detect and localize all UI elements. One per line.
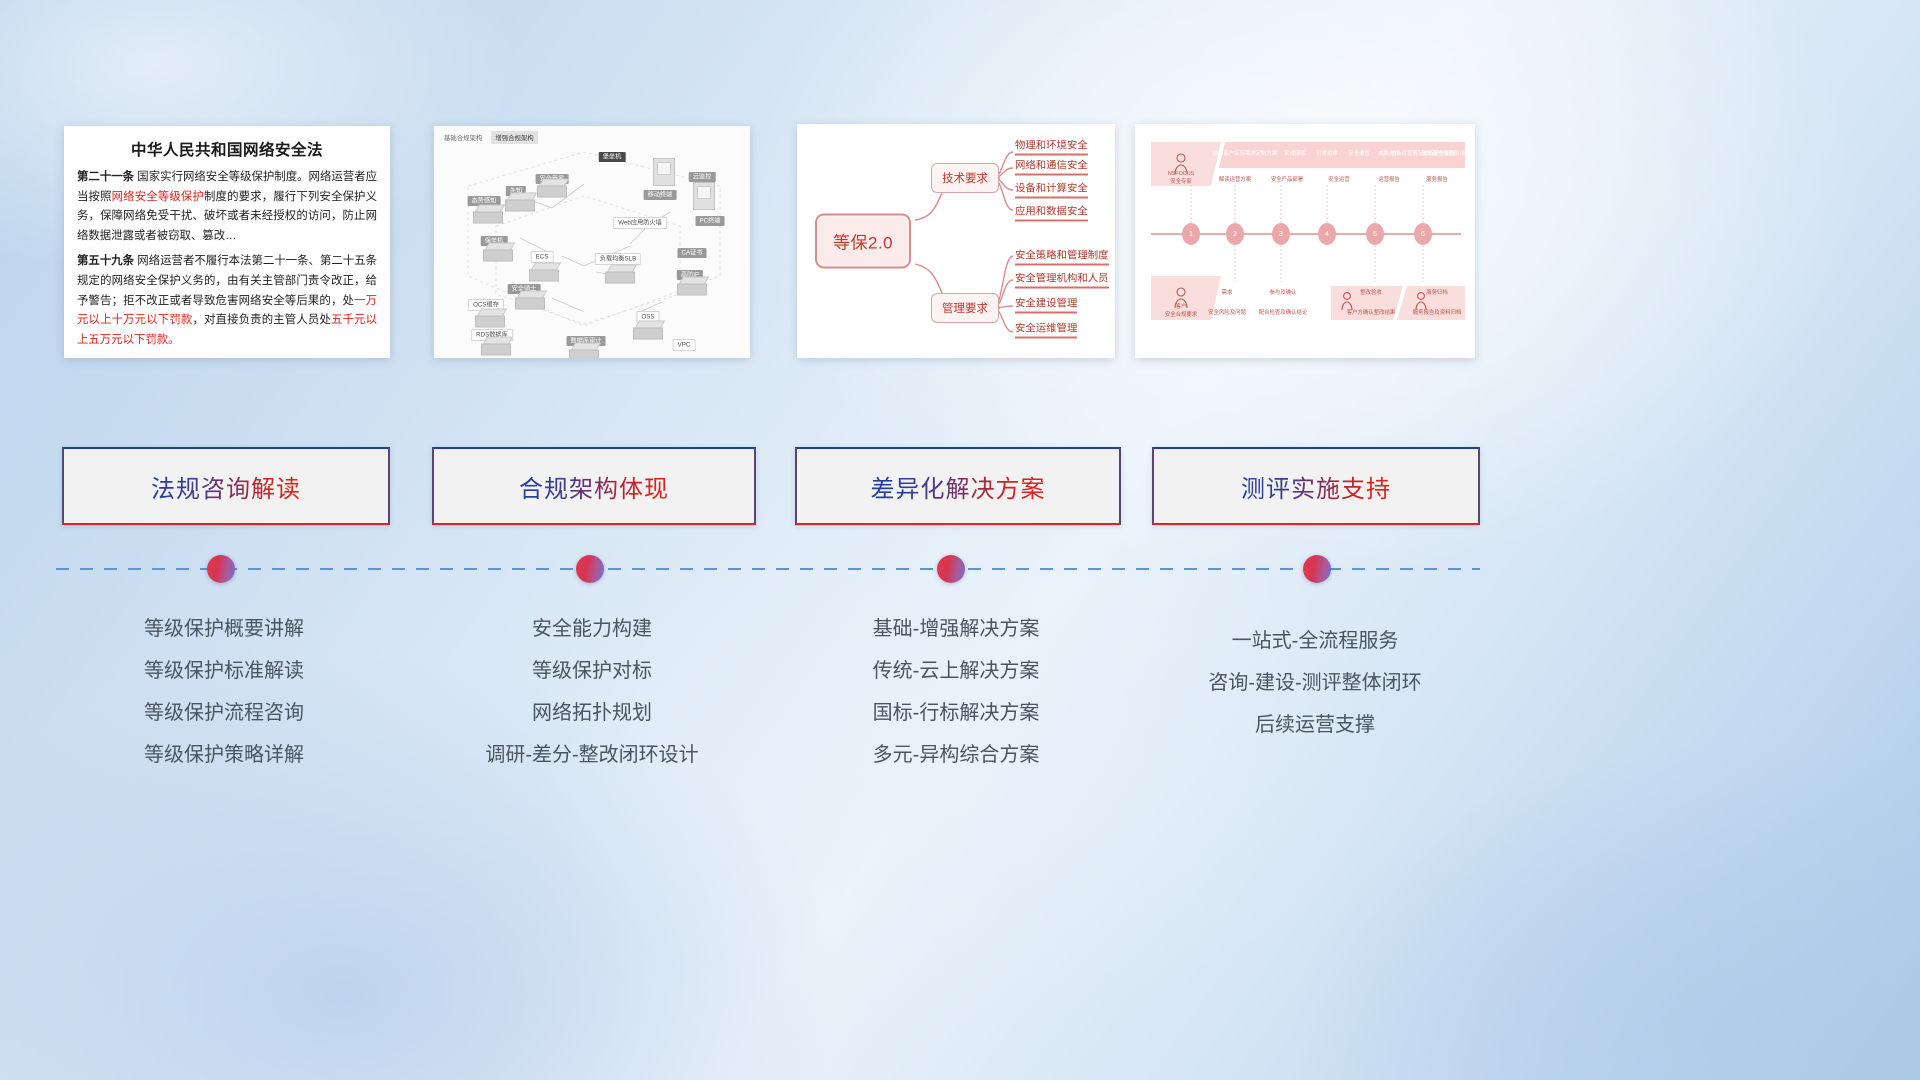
roadmap-bottom-note-2: 客户方确认整改结果	[1347, 310, 1396, 318]
section-title-label-2: 合规架构体现	[519, 469, 669, 504]
law-article-59-label: 第五十九条	[77, 255, 134, 267]
architecture-icon-oss	[633, 321, 663, 340]
law-article-21: 第二十一条 国家实行网络安全等级保护制度。网络运营者应当按照网络安全等级保护制度…	[77, 168, 377, 246]
mindmap-root: 等保2.0	[815, 214, 911, 269]
list-item: 国标-行标解决方案	[795, 692, 1117, 734]
list-item: 等级保护对标	[432, 650, 752, 692]
mindmap-leaf-physical: 物理和环境安全	[1015, 137, 1088, 156]
roadmap-bottom-step-3: 服务归档	[1426, 290, 1448, 298]
section-title-label-4: 测评实施支持	[1241, 469, 1391, 504]
architecture-icon-db-audit	[569, 343, 599, 359]
mindmap-leaf-construction: 安全建设管理	[1015, 295, 1077, 314]
list-item: 咨询-建设-测评整体闭环	[1140, 662, 1490, 704]
section-title-label-3: 差异化解决方案	[871, 469, 1046, 504]
section-item-list-4: 一站式-全流程服务 咨询-建设-测评整体闭环 后续运营支撑	[1140, 620, 1490, 746]
list-item: 一站式-全流程服务	[1140, 620, 1490, 662]
roadmap-bottom-note-3: 服务报告及资料归档	[1413, 310, 1462, 318]
section-item-list-3: 基础-增强解决方案 传统-云上解决方案 国标-行标解决方案 多元-异构综合方案	[795, 608, 1117, 776]
architecture-node-ecs: ECS	[531, 245, 554, 263]
roadmap-step-number-2: 2	[1228, 225, 1242, 243]
architecture-node-slb: 负载均衡SLB	[595, 247, 641, 265]
roadmap-top-note-3: 安全通告	[1348, 151, 1370, 159]
slide-stage: 中华人民共和国网络安全法 第二十一条 国家实行网络安全等级保护制度。网络运营者应…	[0, 0, 1920, 1080]
roadmap-bottom-step-2: 整改验收	[1360, 290, 1382, 298]
timeline-dot-2[interactable]	[576, 555, 604, 583]
architecture-icon-security-knight	[515, 291, 545, 310]
architecture-icon-security-butler	[537, 179, 567, 198]
roadmap-step-number-6: 6	[1416, 225, 1430, 243]
roadmap-bottom-note-1: 配合检查及确认结论	[1259, 310, 1308, 318]
card-mindmap: 等保2.0 技术要求 管理要求 物理和环境安全 网络和通信安全 设备和计算安全 …	[797, 124, 1115, 358]
architecture-canvas: 基础合规架构 增强合规架构 堡垒机 安全管家 先知	[434, 126, 750, 358]
architecture-icon-situational-awareness	[473, 205, 503, 224]
law-document-body: 中华人民共和国网络安全法 第二十一条 国家实行网络安全等级保护制度。网络运营者应…	[64, 126, 390, 358]
card-architecture-diagram: 基础合规架构 增强合规架构 堡垒机 安全管家 先知	[434, 126, 750, 358]
list-item: 网络拓扑规划	[432, 692, 752, 734]
list-item: 安全能力构建	[432, 608, 752, 650]
list-item: 等级保护流程咨询	[62, 692, 386, 734]
architecture-node-vpc: VPC	[673, 333, 696, 351]
list-item: 传统-云上解决方案	[795, 650, 1117, 692]
section-title-box-1[interactable]: 法规咨询解读	[62, 447, 390, 525]
architecture-icon-pc-terminal	[693, 182, 715, 210]
law-article-59-text-b: ，对直接负责的主管人员处	[192, 314, 331, 326]
mindmap-leaf-policy: 安全策略和管理制度	[1015, 247, 1109, 266]
roadmap-top-note-1: 实战演练	[1284, 151, 1306, 159]
roadmap-step-number-5: 5	[1368, 225, 1382, 243]
list-item: 等级保护策略详解	[62, 734, 386, 776]
mindmap-branch-management: 管理要求	[931, 293, 999, 323]
architecture-icon-rds	[481, 337, 511, 356]
roadmap-bottom-step-1: 参与及确认	[1270, 290, 1297, 298]
section-title-label-1: 法规咨询解读	[151, 469, 301, 504]
section-titles: 法规咨询解读 合规架构体现 差异化解决方案 测评实施支持	[0, 447, 1920, 521]
timeline-dashed-line	[56, 568, 1480, 570]
list-item: 多元-异构综合方案	[795, 734, 1117, 776]
timeline-dot-4[interactable]	[1303, 555, 1331, 583]
roadmap-top-note-6: 输出服务报告及运营总结报告	[1422, 151, 1475, 159]
card-roadmap: NSFOCUS安全专家 客户安全合规要求 结合客户实际需求定制方案 实战演练 日…	[1135, 124, 1475, 358]
architecture-node-ca-cert: CA证书	[678, 241, 707, 259]
architecture-icon-slb	[605, 265, 635, 284]
mindmap-leaf-org: 安全管理机构和人员	[1015, 270, 1109, 289]
mindmap-branch-technical: 技术要求	[931, 163, 999, 193]
mindmap-leaf-network: 网络和通信安全	[1015, 157, 1088, 176]
law-article-21-label: 第二十一条	[77, 171, 134, 183]
section-title-box-2[interactable]: 合规架构体现	[432, 447, 756, 525]
roadmap-top-step-4: 服务报告	[1426, 177, 1448, 185]
mindmap-leaf-ops: 安全运维管理	[1015, 320, 1077, 339]
roadmap-bottom-note-0: 安全风险及问题	[1208, 310, 1246, 318]
roadmap-client: 客户安全合规要求	[1165, 304, 1197, 320]
list-item: 等级保护标准解读	[62, 650, 386, 692]
roadmap-top-note-2: 日常运维	[1316, 151, 1338, 159]
list-item: 基础-增强解决方案	[795, 608, 1117, 650]
roadmap-top-step-1: 安全产品部署	[1271, 177, 1303, 185]
roadmap-step-number-4: 4	[1320, 225, 1334, 243]
roadmap-top-step-0: 解读运营方案	[1219, 177, 1251, 185]
section-item-list-2: 安全能力构建 等级保护对标 网络拓扑规划 调研-差分-整改闭环设计	[432, 608, 752, 776]
architecture-node-bastion: 堡垒机	[599, 145, 626, 163]
section-title-box-3[interactable]: 差异化解决方案	[795, 447, 1121, 525]
architecture-node-cloud-monitor: 云监控	[689, 165, 716, 183]
law-article-21-highlight: 网络安全等级保护	[112, 191, 204, 203]
timeline-dot-3[interactable]	[937, 555, 965, 583]
roadmap-bottom-step-0: 需求	[1222, 290, 1233, 298]
timeline-dot-1[interactable]	[207, 555, 235, 583]
list-item: 调研-差分-整改闭环设计	[432, 734, 752, 776]
architecture-icon-fortress	[483, 243, 513, 262]
mindmap-leaf-device: 设备和计算安全	[1015, 180, 1088, 199]
architecture-icon-xianzhi	[505, 193, 535, 212]
roadmap-top-step-3: 运营报告	[1378, 177, 1400, 185]
list-item: 后续运营支撑	[1140, 704, 1490, 746]
roadmap-top-note-0: 结合客户实际需求定制方案	[1213, 151, 1278, 159]
roadmap-brand: NSFOCUS安全专家	[1168, 171, 1194, 187]
roadmap-step-number-3: 3	[1274, 225, 1288, 243]
architecture-node-pc-terminal: PC终端	[696, 209, 725, 227]
list-item: 等级保护概要讲解	[62, 608, 386, 650]
roadmap-canvas: NSFOCUS安全专家 客户安全合规要求 结合客户实际需求定制方案 实战演练 日…	[1135, 124, 1475, 358]
roadmap-top-step-2: 安全运营	[1328, 177, 1350, 185]
mindmap-canvas: 等保2.0 技术要求 管理要求 物理和环境安全 网络和通信安全 设备和计算安全 …	[797, 124, 1115, 358]
architecture-node-mobile-terminal: 移动终端	[644, 183, 677, 201]
mindmap-leaf-application: 应用和数据安全	[1015, 203, 1088, 222]
architecture-icon-anti-ddos	[677, 277, 707, 296]
card-law-document: 中华人民共和国网络安全法 第二十一条 国家实行网络安全等级保护制度。网络运营者应…	[64, 126, 390, 358]
section-title-box-4[interactable]: 测评实施支持	[1152, 447, 1480, 525]
law-title: 中华人民共和国网络安全法	[77, 138, 377, 160]
architecture-icon-mobile-terminal	[653, 158, 675, 186]
law-article-59: 第五十九条 网络运营者不履行本法第二十一条、第二十五条规定的网络安全保护义务的，…	[77, 252, 377, 350]
roadmap-step-number-1: 1	[1184, 225, 1198, 243]
architecture-node-waf: Web应用防火墙	[613, 211, 667, 229]
section-item-list-1: 等级保护概要讲解 等级保护标准解读 等级保护流程咨询 等级保护策略详解	[62, 608, 386, 776]
